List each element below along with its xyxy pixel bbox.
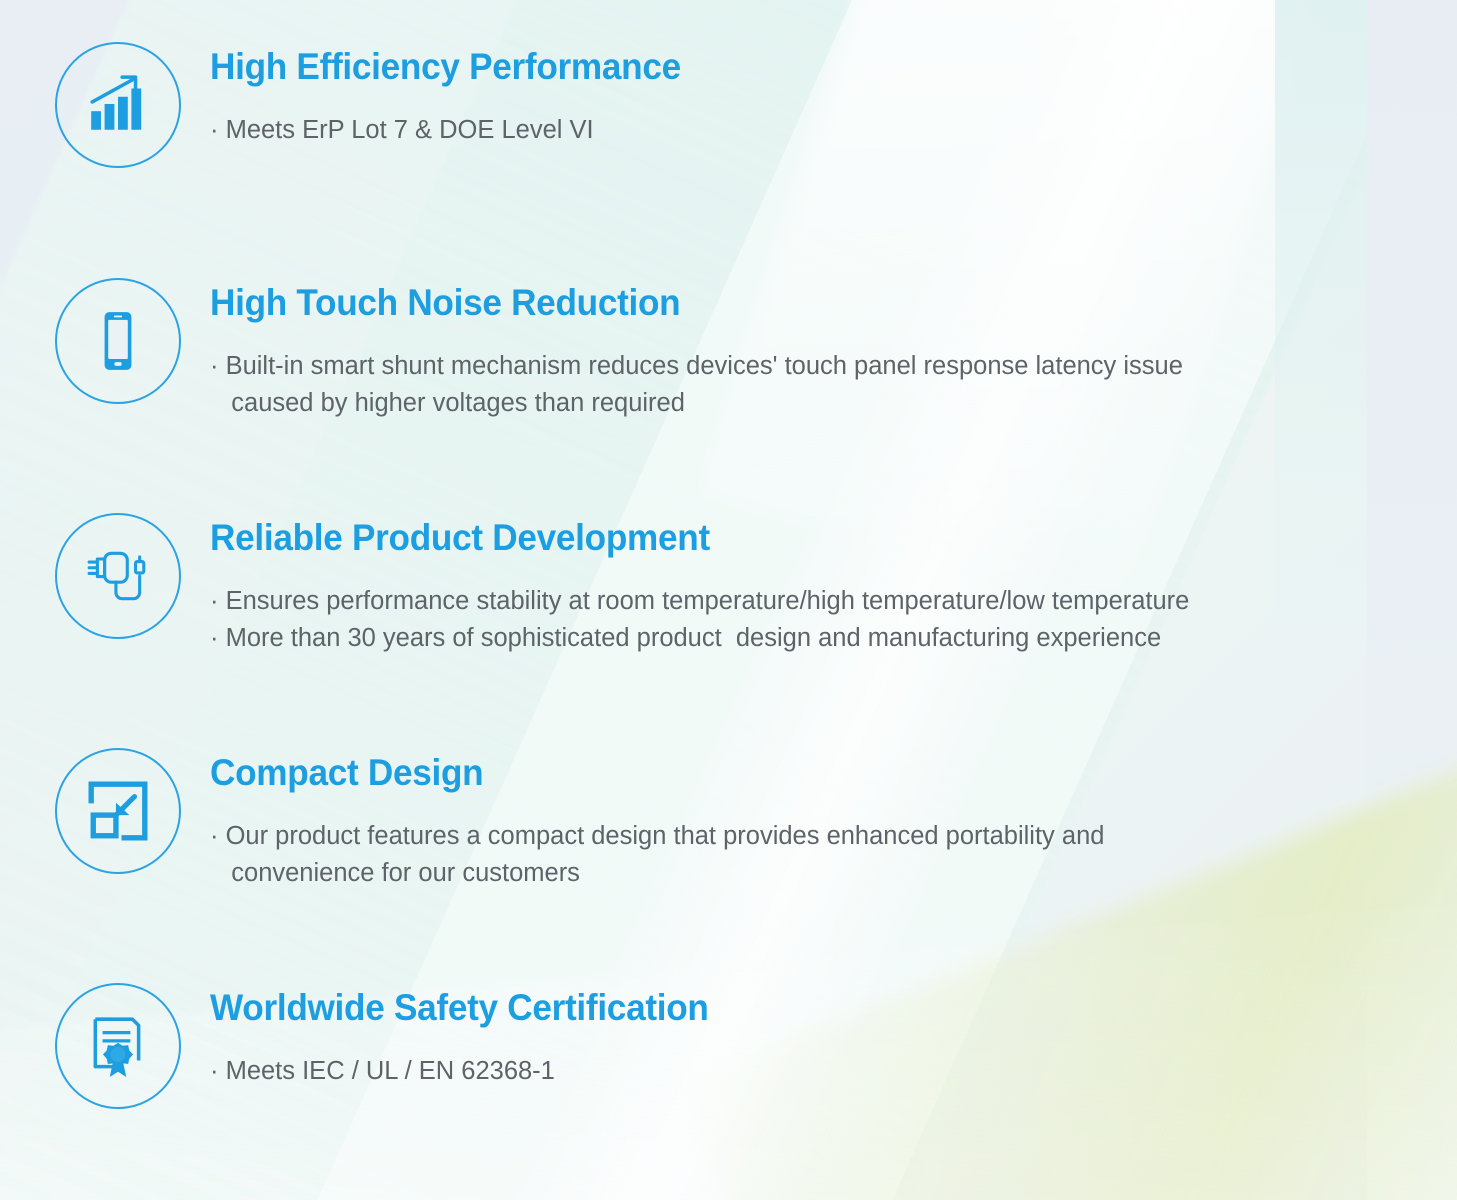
feature-title: High Touch Noise Reduction — [210, 284, 1341, 323]
certificate-seal-icon — [85, 1013, 151, 1079]
feature-divider — [210, 567, 1378, 570]
bar-chart-growth-icon — [85, 72, 151, 138]
feature-list: High Efficiency Performance · Meets ErP … — [0, 0, 1457, 1200]
feature-bullets: · Built-in smart shunt mechanism reduces… — [210, 348, 1400, 422]
feature-text-block: Reliable Product Development · Ensures p… — [210, 513, 1400, 657]
feature-icon-container — [55, 513, 181, 639]
feature-divider — [210, 96, 1378, 99]
feature-divider — [210, 802, 1378, 805]
power-adapter-icon — [85, 543, 151, 609]
feature-icon-container — [55, 42, 181, 168]
bullet-line: · Built-in smart shunt mechanism reduces… — [210, 348, 1400, 422]
feature-title: High Efficiency Performance — [210, 48, 1341, 87]
feature-item-compact-design: Compact Design · Our product features a … — [0, 748, 1457, 892]
feature-text-block: Worldwide Safety Certification · Meets I… — [210, 983, 1400, 1090]
bullet-line: · More than 30 years of sophisticated pr… — [210, 620, 1400, 657]
feature-title: Reliable Product Development — [210, 519, 1341, 558]
feature-item-high-touch-noise-reduction: High Touch Noise Reduction · Built-in sm… — [0, 278, 1457, 422]
feature-bullets: · Meets IEC / UL / EN 62368-1 — [210, 1053, 1400, 1090]
feature-text-block: High Touch Noise Reduction · Built-in sm… — [210, 278, 1400, 422]
feature-text-block: High Efficiency Performance · Meets ErP … — [210, 42, 1400, 149]
feature-title: Compact Design — [210, 754, 1341, 793]
bullet-line: · Our product features a compact design … — [210, 818, 1400, 892]
feature-divider — [210, 1037, 1378, 1040]
feature-icon-container — [55, 278, 181, 404]
feature-bullets: · Ensures performance stability at room … — [210, 583, 1400, 657]
feature-bullets: · Our product features a compact design … — [210, 818, 1400, 892]
feature-text-block: Compact Design · Our product features a … — [210, 748, 1400, 892]
feature-item-reliable-product-development: Reliable Product Development · Ensures p… — [0, 513, 1457, 657]
feature-title: Worldwide Safety Certification — [210, 989, 1341, 1028]
feature-bullets: · Meets ErP Lot 7 & DOE Level VI — [210, 112, 1400, 149]
feature-icon-container — [55, 983, 181, 1109]
feature-divider — [210, 332, 1378, 335]
feature-item-high-efficiency-performance: High Efficiency Performance · Meets ErP … — [0, 42, 1457, 168]
smartphone-icon — [85, 308, 151, 374]
bullet-line: · Ensures performance stability at room … — [210, 583, 1400, 620]
feature-item-worldwide-safety-certification: Worldwide Safety Certification · Meets I… — [0, 983, 1457, 1109]
compact-resize-icon — [85, 778, 151, 844]
feature-icon-container — [55, 748, 181, 874]
bullet-line: · Meets IEC / UL / EN 62368-1 — [210, 1053, 1400, 1090]
bullet-line: · Meets ErP Lot 7 & DOE Level VI — [210, 112, 1400, 149]
feature-highlight-page: High Efficiency Performance · Meets ErP … — [0, 0, 1457, 1200]
